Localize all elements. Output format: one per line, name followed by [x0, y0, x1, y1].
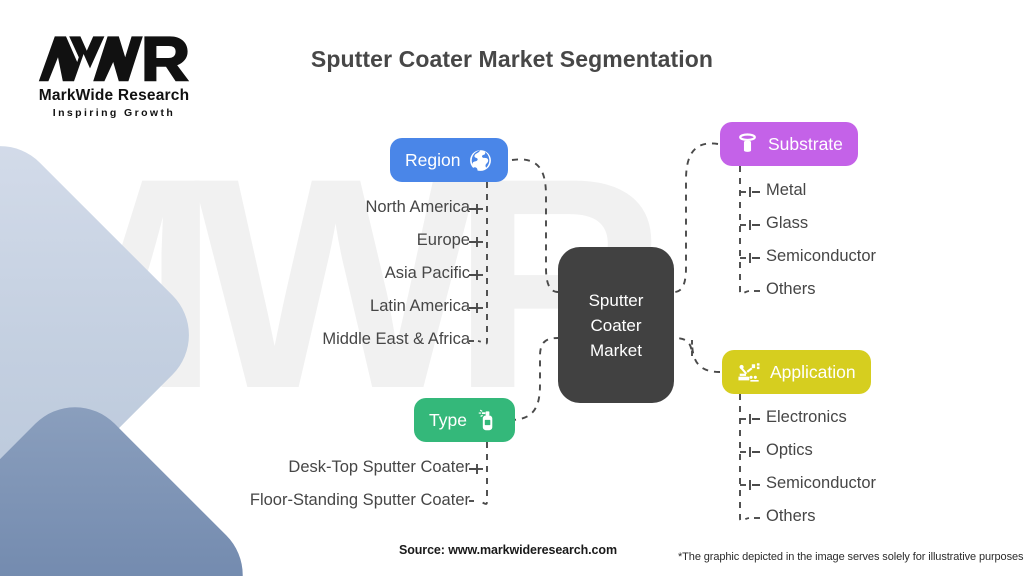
leaf-region-0: North America: [365, 198, 470, 217]
globe-icon: [468, 148, 493, 173]
branch-label-substrate: Substrate: [768, 134, 843, 155]
branch-badge-substrate[interactable]: Substrate: [720, 122, 858, 166]
spray-bottle-icon: [475, 408, 500, 433]
branch-label-application: Application: [770, 362, 856, 383]
branch-label-type: Type: [429, 410, 467, 431]
center-node-line-2: Coater: [589, 313, 644, 338]
branch-badge-application[interactable]: Application: [722, 350, 871, 394]
center-node-line-3: Market: [589, 338, 644, 363]
center-node-line-1: Sputter: [589, 288, 644, 313]
layers-cylinder-icon: [735, 132, 760, 157]
center-node: Sputter Coater Market: [558, 247, 674, 403]
leaf-application-0: Electronics: [766, 408, 847, 427]
leaf-type-0: Desk-Top Sputter Coater: [288, 458, 470, 477]
leaf-region-1: Europe: [417, 231, 470, 250]
leaf-substrate-0: Metal: [766, 181, 806, 200]
branch-badge-type[interactable]: Type: [414, 398, 515, 442]
leaf-application-1: Optics: [766, 441, 813, 460]
leaf-region-4: Middle East & Africa: [322, 330, 470, 349]
source-text: Source: www.markwideresearch.com: [399, 543, 617, 557]
robot-arm-icon: [737, 360, 762, 385]
infographic-canvas: MWR MarkWide Research Inspiring Growth S…: [0, 0, 1024, 576]
leaf-substrate-3: Others: [766, 280, 816, 299]
branch-label-region: Region: [405, 150, 460, 171]
leaf-application-3: Others: [766, 507, 816, 526]
leaf-region-3: Latin America: [370, 297, 470, 316]
branch-badge-region[interactable]: Region: [390, 138, 508, 182]
leaf-application-2: Semiconductor: [766, 474, 876, 493]
disclaimer-text: *The graphic depicted in the image serve…: [678, 551, 1023, 563]
leaf-type-1: Floor-Standing Sputter Coater: [250, 491, 470, 510]
leaf-region-2: Asia Pacific: [385, 264, 470, 283]
leaf-substrate-1: Glass: [766, 214, 808, 233]
leaf-substrate-2: Semiconductor: [766, 247, 876, 266]
